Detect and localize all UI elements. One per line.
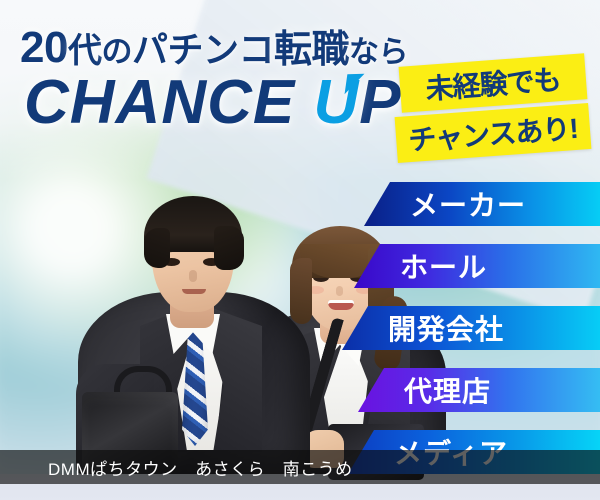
people-photo xyxy=(0,114,470,474)
headline-nara: なら xyxy=(349,36,408,69)
headline: 20代のパチンコ転職なら xyxy=(20,18,408,73)
ad-banner[interactable]: 20代のパチンコ転職なら CHANCE UP 未経験でも チャンスあり! メーカ… xyxy=(0,0,600,500)
logo-chance-text: CHANCE xyxy=(24,68,295,137)
headline-number: 20 xyxy=(20,23,68,72)
man-hair-side-left xyxy=(144,228,170,268)
headline-dai: 代 xyxy=(68,32,102,70)
category-banner-hall[interactable]: ホール xyxy=(354,244,600,288)
category-banner-agency[interactable]: 代理店 xyxy=(358,368,600,412)
headline-no: の xyxy=(101,34,132,69)
logo-u-letter: U xyxy=(313,72,359,134)
man-figure xyxy=(86,152,296,474)
man-hair-side-right xyxy=(214,226,244,270)
chance-up-logo: CHANCE UP xyxy=(24,72,402,134)
woman-nose xyxy=(336,286,343,296)
man-mouth xyxy=(182,289,206,294)
headline-tenshoku: 転職 xyxy=(274,29,349,71)
category-banner-maker[interactable]: メーカー xyxy=(364,182,600,226)
up-arrow-icon xyxy=(345,74,365,95)
headline-pachinko: パチンコ xyxy=(132,29,274,70)
category-banner-developer[interactable]: 開発会社 xyxy=(342,306,600,350)
man-nose xyxy=(189,270,197,282)
caption-bar: DMMぱちタウン あさくら 南こうめ xyxy=(0,450,600,484)
woman-mouth xyxy=(328,300,354,310)
